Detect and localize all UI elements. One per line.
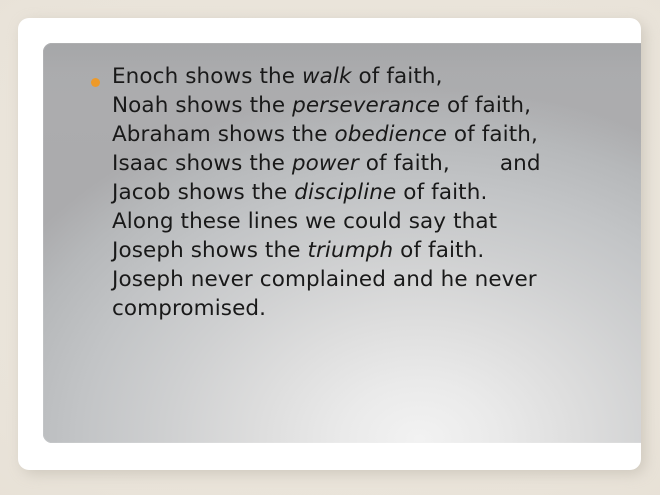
body-text-run: of faith, bbox=[447, 122, 538, 147]
emphasized-word: obedience bbox=[334, 122, 446, 147]
emphasized-word: power bbox=[292, 151, 359, 176]
body-line: Joseph never complained and he never bbox=[112, 265, 633, 294]
body-text-run: of faith, bbox=[352, 64, 443, 89]
body-line: Isaac shows the power of faith,and bbox=[112, 149, 633, 178]
body-text-run: Abraham shows the bbox=[112, 122, 334, 147]
round-bullet-icon bbox=[91, 78, 100, 87]
body-text-run: Jacob shows the bbox=[112, 180, 294, 205]
body-text-run: Enoch shows the bbox=[112, 64, 302, 89]
body-text-run: of faith. bbox=[396, 180, 487, 205]
body-text-run: of faith, bbox=[359, 151, 450, 176]
slide-body-text: Enoch shows the walk of faith,Noah shows… bbox=[88, 62, 633, 323]
body-text-run: Joseph shows the bbox=[112, 238, 307, 263]
body-line: Abraham shows the obedience of faith, bbox=[112, 120, 633, 149]
body-text-run: Isaac shows the bbox=[112, 151, 292, 176]
body-line: Noah shows the perseverance of faith, bbox=[112, 91, 633, 120]
body-text-run: Along these lines we could say that bbox=[112, 209, 497, 234]
body-text-run: Noah shows the bbox=[112, 93, 292, 118]
body-text-run: of faith, bbox=[440, 93, 531, 118]
body-text-run: Joseph never complained and he never bbox=[112, 267, 537, 292]
body-text-run: and bbox=[500, 151, 541, 176]
body-line: Jacob shows the discipline of faith. bbox=[112, 178, 633, 207]
body-line: Along these lines we could say that bbox=[112, 207, 633, 236]
slide-root: Enoch shows the walk of faith,Noah shows… bbox=[0, 0, 660, 495]
body-text-run: of faith. bbox=[393, 238, 484, 263]
slide-content-panel: Enoch shows the walk of faith,Noah shows… bbox=[43, 43, 641, 443]
body-line: compromised. bbox=[112, 294, 633, 323]
slide-body-block: Enoch shows the walk of faith,Noah shows… bbox=[88, 62, 633, 323]
emphasized-word: walk bbox=[302, 64, 352, 89]
emphasized-word: triumph bbox=[307, 238, 393, 263]
body-line: Enoch shows the walk of faith, bbox=[112, 62, 633, 91]
body-text-run: compromised. bbox=[112, 296, 266, 321]
emphasized-word: discipline bbox=[294, 180, 396, 205]
emphasized-word: perseverance bbox=[292, 93, 440, 118]
slide-card: Enoch shows the walk of faith,Noah shows… bbox=[18, 18, 641, 470]
body-line: Joseph shows the triumph of faith. bbox=[112, 236, 633, 265]
